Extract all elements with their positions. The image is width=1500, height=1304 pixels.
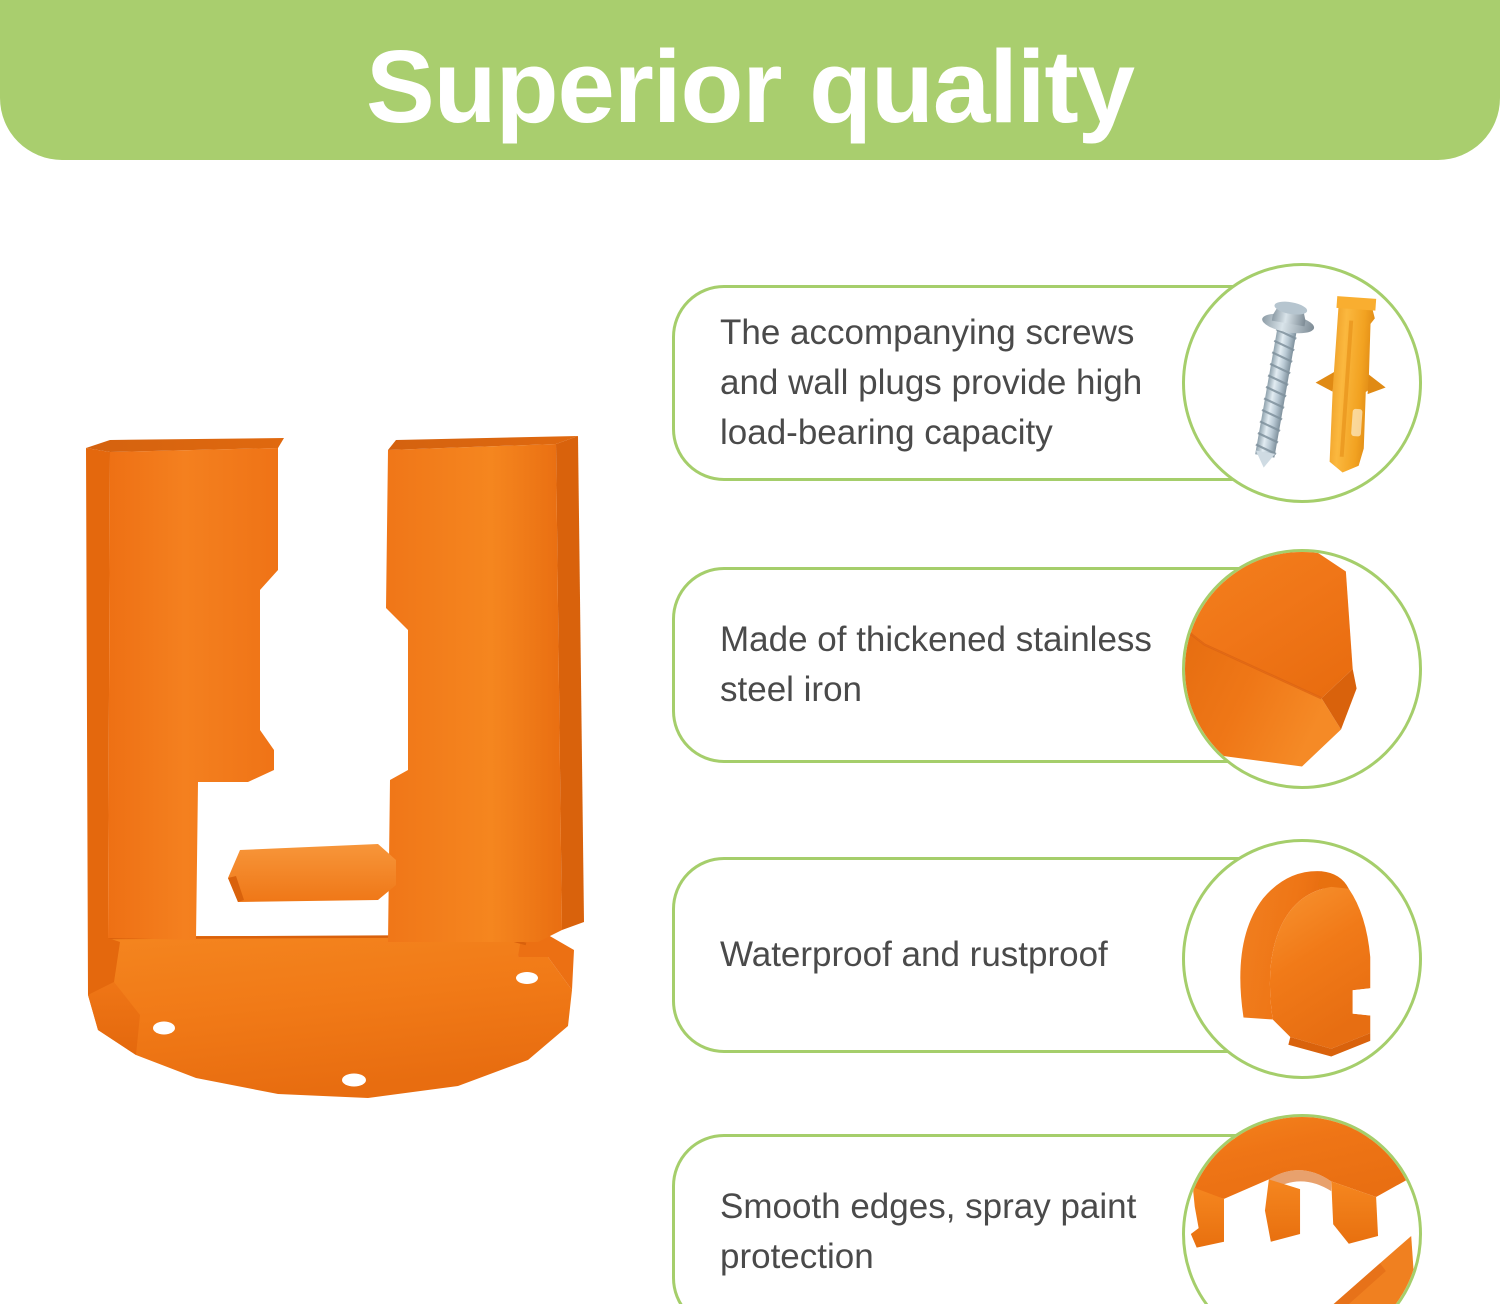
base-plate xyxy=(88,936,572,1098)
mounting-hole-right xyxy=(516,972,538,984)
feature-row-material: Made of thickened stainless steel iron xyxy=(672,545,1472,795)
wall-plug-window xyxy=(1351,409,1363,437)
feature-text: Waterproof and rustproof xyxy=(720,930,1108,980)
bracket-folded-corner-photo xyxy=(1182,549,1422,789)
upright-right-panel xyxy=(386,444,562,942)
feature-row-load-bearing: The accompanying screws and wall plugs p… xyxy=(672,263,1472,513)
page-title: Superior quality xyxy=(366,35,1134,138)
mounting-hole-left xyxy=(153,1022,175,1035)
screw-and-wall-plug-photo xyxy=(1182,263,1422,503)
feature-text: Smooth edges, spray paint protection xyxy=(720,1182,1179,1281)
feature-row-weatherproof: Waterproof and rustproof xyxy=(672,835,1472,1085)
bracket-center-tab xyxy=(1265,1179,1300,1241)
wall-plug-wing-right xyxy=(1368,375,1387,396)
feature-row-finish: Smooth edges, spray paint protection xyxy=(672,1112,1472,1304)
bracket-edge-notch xyxy=(1353,988,1371,1015)
feature-text: The accompanying screws and wall plugs p… xyxy=(720,308,1179,457)
bracket-illustration xyxy=(78,430,648,1130)
product-photo xyxy=(78,430,648,1130)
header-banner: Superior quality xyxy=(0,0,1500,160)
wall-plug-wing-left xyxy=(1315,371,1334,392)
bracket-top-band xyxy=(1185,1117,1411,1199)
infographic-page: Superior quality xyxy=(0,0,1500,1304)
bracket-side-profile-photo xyxy=(1182,839,1422,1079)
feature-text: Made of thickened stainless steel iron xyxy=(720,615,1179,714)
notch-tongue-tab xyxy=(228,844,396,902)
mounting-hole-center xyxy=(342,1074,366,1087)
